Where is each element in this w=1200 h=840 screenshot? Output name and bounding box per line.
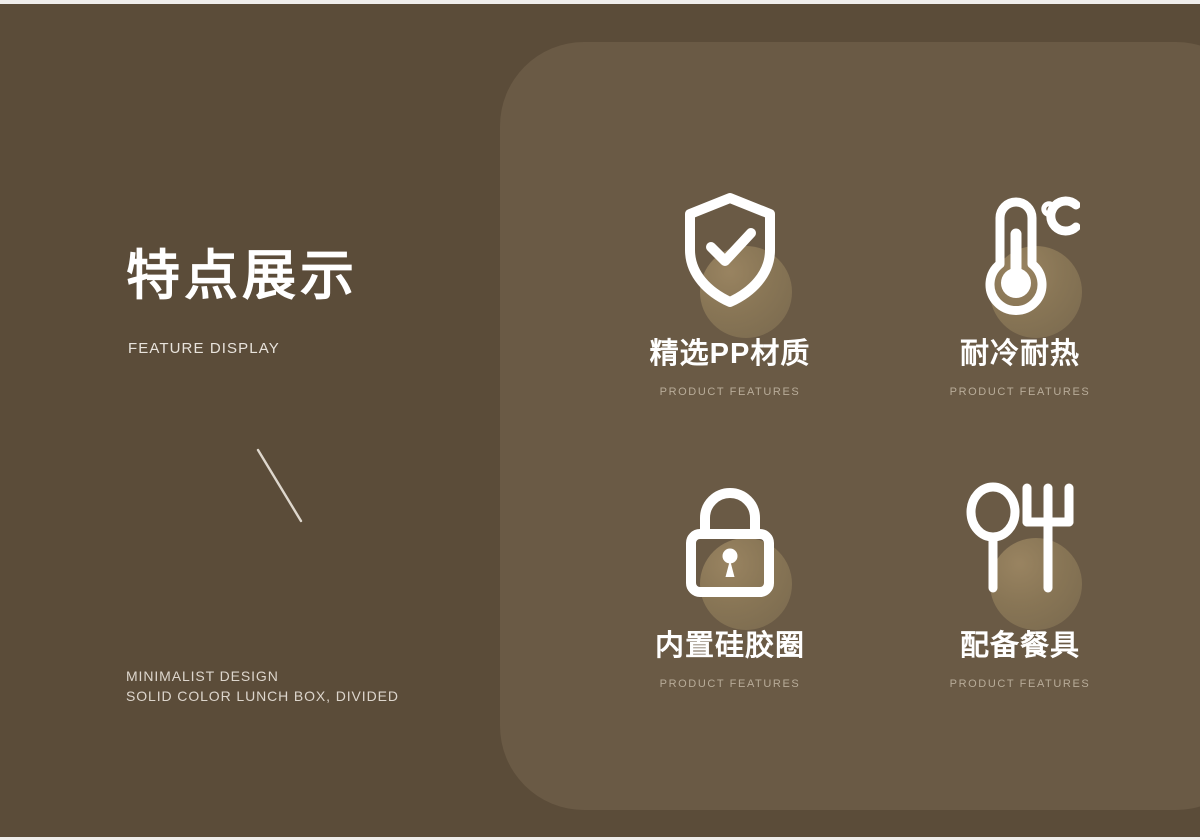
icon-container: [940, 482, 1100, 632]
thermometer-celsius-icon: [960, 190, 1080, 322]
feature-card-temperature[interactable]: 耐冷耐热 PRODUCT FEATURES: [890, 190, 1150, 490]
feature-subtitle: PRODUCT FEATURES: [890, 679, 1150, 690]
icon-container: [940, 190, 1100, 340]
caption-line-2: SOLID COLOR LUNCH BOX, DIVIDED: [126, 686, 399, 706]
feature-title: 耐冷耐热: [890, 340, 1150, 369]
feature-card-cutlery[interactable]: 配备餐具 PRODUCT FEATURES: [890, 482, 1150, 782]
feature-title: 内置硅胶圈: [600, 632, 860, 661]
caption-block: MINIMALIST DESIGN SOLID COLOR LUNCH BOX,…: [126, 666, 399, 706]
feature-grid: 精选PP材质 PRODUCT FEATURES 耐冷耐热: [600, 190, 1160, 790]
page-title-en: FEATURE DISPLAY: [128, 341, 280, 356]
feature-display-slide: 特点展示 FEATURE DISPLAY MINIMALIST DESIGN S…: [0, 0, 1200, 840]
feature-subtitle: PRODUCT FEATURES: [600, 679, 860, 690]
feature-subtitle: PRODUCT FEATURES: [890, 387, 1150, 398]
icon-container: [650, 190, 810, 340]
padlock-icon: [678, 482, 782, 602]
feature-card-silicone-seal[interactable]: 内置硅胶圈 PRODUCT FEATURES: [600, 482, 860, 782]
spoon-fork-icon: [964, 482, 1076, 602]
feature-card-pp-material[interactable]: 精选PP材质 PRODUCT FEATURES: [600, 190, 860, 490]
icon-container: [650, 482, 810, 632]
caption-line-1: MINIMALIST DESIGN: [126, 666, 399, 686]
feature-title: 精选PP材质: [600, 340, 860, 369]
left-column: 特点展示 FEATURE DISPLAY MINIMALIST DESIGN S…: [126, 0, 486, 840]
page-title-cn: 特点展示: [126, 249, 358, 303]
shield-check-icon: [678, 190, 782, 310]
diagonal-line-icon: [251, 445, 311, 525]
feature-title: 配备餐具: [890, 632, 1150, 661]
feature-subtitle: PRODUCT FEATURES: [600, 387, 860, 398]
